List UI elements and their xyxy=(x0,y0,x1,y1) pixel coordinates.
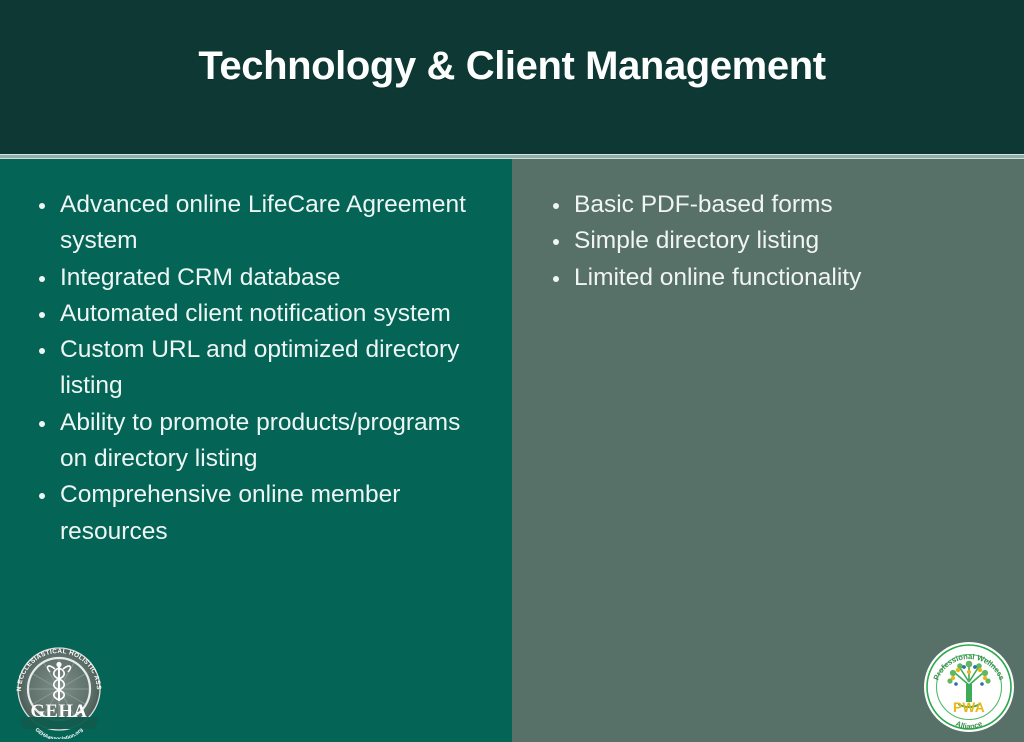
geha-seal-icon: GUARDIAN ECCLESIASTICAL HOLISTIC ASSOCIA… xyxy=(5,635,113,739)
page-title: Technology & Client Management xyxy=(0,44,1024,89)
pwa-acronym: PWA xyxy=(953,700,985,715)
list-item: Basic PDF-based forms xyxy=(512,187,1024,223)
column-advanced-offering: Advanced online LifeCare Agreement syste… xyxy=(0,159,512,742)
list-item: Ability to promote products/programs on … xyxy=(0,405,512,478)
list-item: Limited online functionality xyxy=(512,260,1024,296)
pwa-logo-icon: Professional Wellness Alliance xyxy=(922,640,1016,734)
list-item: Automated client notification system xyxy=(0,296,512,332)
comparison-columns: Advanced online LifeCare Agreement syste… xyxy=(0,159,1024,742)
slide-header: Technology & Client Management xyxy=(0,0,1024,154)
slide-root: Technology & Client Management Advanced … xyxy=(0,0,1024,742)
list-item: Advanced online LifeCare Agreement syste… xyxy=(0,187,512,260)
bullet-list-advanced: Advanced online LifeCare Agreement syste… xyxy=(0,187,512,550)
list-item: Custom URL and optimized directory listi… xyxy=(0,332,512,405)
bullet-list-basic: Basic PDF-based forms Simple directory l… xyxy=(512,187,1024,296)
list-item: Comprehensive online member resources xyxy=(0,477,512,550)
list-item: Integrated CRM database xyxy=(0,260,512,296)
pwa-circular-logo: Professional Wellness Alliance xyxy=(922,640,1016,734)
geha-seal-logo: GUARDIAN ECCLESIASTICAL HOLISTIC ASSOCIA… xyxy=(5,635,113,739)
list-item: Simple directory listing xyxy=(512,223,1024,259)
column-basic-offering: Basic PDF-based forms Simple directory l… xyxy=(512,159,1024,742)
